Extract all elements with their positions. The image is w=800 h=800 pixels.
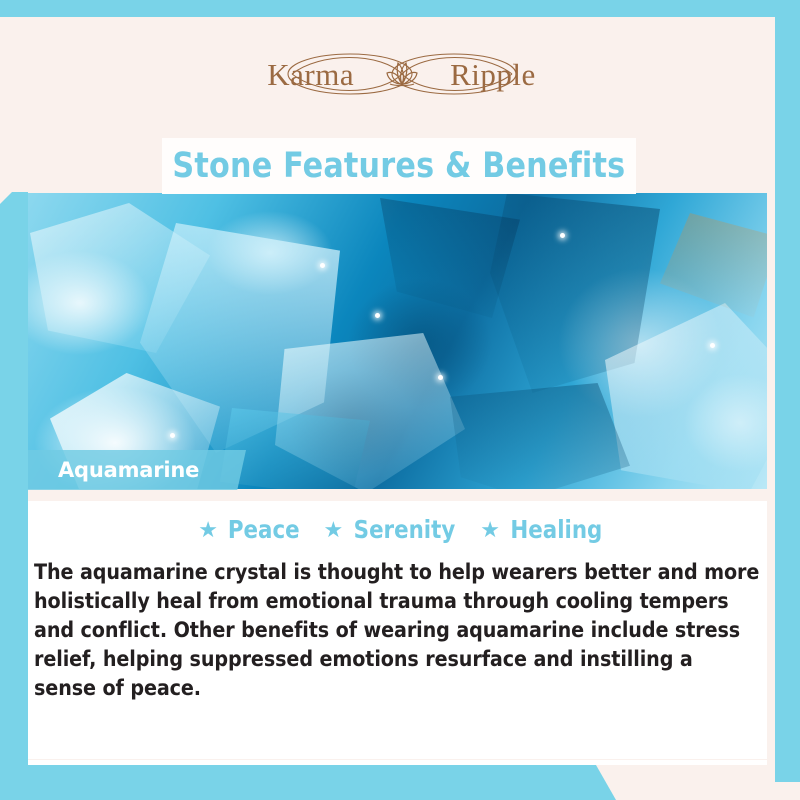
sparkle-icon bbox=[710, 343, 715, 348]
right-accent-gap bbox=[767, 17, 775, 782]
crystal-facet bbox=[490, 193, 660, 393]
crystal-facet bbox=[380, 198, 520, 318]
right-accent-bar bbox=[775, 0, 800, 782]
keyword-item-serenity: ★ Serenity bbox=[324, 515, 459, 544]
brand-logo bbox=[28, 43, 775, 105]
hero-crystal-image bbox=[20, 193, 775, 489]
brand-header: Karma Ripple bbox=[28, 17, 775, 127]
content-panel: ★ Peace ★ Serenity ★ Healing The aquamar… bbox=[28, 501, 775, 759]
star-icon: ★ bbox=[480, 519, 500, 541]
crystal-facet bbox=[30, 203, 210, 353]
bottom-accent-bar bbox=[0, 765, 616, 800]
keyword-item-healing: ★ Healing bbox=[480, 515, 605, 544]
crystal-facet bbox=[220, 408, 370, 489]
body-paragraph: The aquamarine crystal is thought to hel… bbox=[34, 558, 760, 703]
sparkle-icon bbox=[438, 375, 443, 380]
content-divider bbox=[28, 489, 775, 501]
star-icon: ★ bbox=[198, 519, 218, 541]
keyword-list: ★ Peace ★ Serenity ★ Healing bbox=[28, 515, 775, 544]
crystal-facet bbox=[140, 223, 340, 453]
crystal-facet bbox=[660, 213, 775, 323]
sparkle-icon bbox=[170, 433, 175, 438]
stone-name-label: Aquamarine bbox=[58, 458, 199, 482]
crystal-facet bbox=[450, 383, 630, 489]
stone-name-banner: Aquamarine bbox=[28, 450, 246, 490]
bottom-accent-gap bbox=[28, 760, 775, 765]
crystal-photo bbox=[20, 193, 775, 489]
top-accent-bar bbox=[0, 0, 800, 17]
crystal-facet bbox=[275, 333, 465, 489]
keyword-item-peace: ★ Peace bbox=[198, 515, 301, 544]
crystal-facet bbox=[605, 303, 775, 489]
lotus-infinity-icon bbox=[272, 43, 532, 105]
title-band: Stone Features & Benefits bbox=[162, 138, 636, 194]
infographic-page: Karma Ripple Stone Features & Benefits bbox=[0, 0, 800, 800]
left-accent-bar bbox=[0, 192, 28, 800]
keyword-label: Serenity bbox=[354, 515, 456, 544]
sparkle-icon bbox=[320, 263, 325, 268]
page-title: Stone Features & Benefits bbox=[173, 146, 626, 186]
sparkle-icon bbox=[560, 233, 565, 238]
keyword-label: Healing bbox=[510, 515, 602, 544]
sparkle-icon bbox=[375, 313, 380, 318]
star-icon: ★ bbox=[324, 519, 344, 541]
keyword-label: Peace bbox=[228, 515, 300, 544]
